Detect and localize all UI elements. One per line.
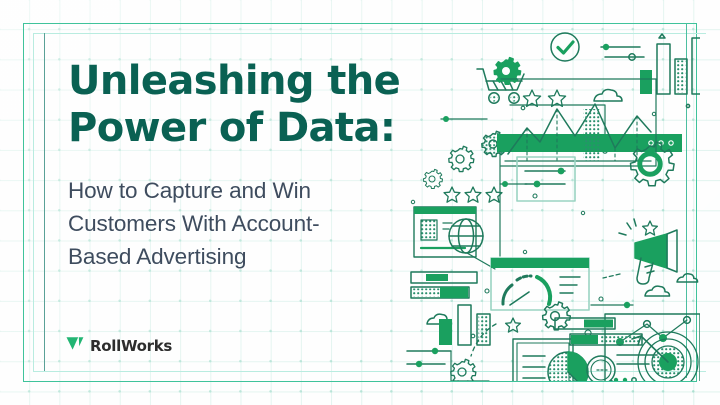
pie-chart-icon [548, 352, 588, 381]
line-chart-icon-main [501, 79, 656, 166]
gear-icon-cart [494, 58, 520, 85]
rollworks-arrow-icon [66, 336, 84, 356]
progress-bar-icon-a [411, 272, 477, 283]
cloud-icon-topright [677, 274, 698, 282]
subhead-line-2: Customers With Account- [68, 211, 320, 236]
document-globe-card [414, 207, 476, 257]
gear-icon-bottom-b [451, 359, 476, 381]
brand-logo-text: RollWorks [90, 337, 172, 355]
progress-bar-icon-d [570, 334, 642, 345]
bar-chart-icon-top [640, 34, 700, 108]
page-subtitle: How to Capture and Win Customers With Ac… [68, 174, 438, 273]
star-icon-group-top [523, 90, 565, 106]
cloud-icon-top [594, 90, 622, 102]
gear-icon-left-a [449, 146, 474, 171]
slider-control-icon-top [601, 44, 644, 60]
checkmark-circle-icon [551, 33, 579, 61]
decorative-frame-rule-left [44, 33, 45, 371]
slider-control-icon-right [591, 297, 633, 308]
gear-icon-left-b [424, 169, 443, 188]
slide-canvas: Unleashing the Power of Data: How to Cap… [0, 0, 720, 405]
page-title: Unleashing the Power of Data: [68, 58, 438, 152]
subhead-line-3: Based Advertising [68, 244, 246, 269]
gear-icon-bottom-a [543, 302, 571, 330]
cloud-icon-right [645, 286, 670, 296]
headline-line-1: Unleashing the [68, 58, 400, 104]
star-icon-group-mid [444, 187, 502, 202]
subhead-line-1: How to Capture and Win [68, 178, 311, 203]
megaphone-icon [603, 219, 677, 284]
brand-logo: RollWorks [66, 336, 172, 356]
bar-chart-icon-bottom-left [439, 305, 490, 345]
slider-control-icon-bottom [407, 348, 489, 381]
hero-illustration [405, 24, 700, 381]
slider-card-icon [517, 157, 575, 201]
headline-line-2: Power of Data: [68, 105, 395, 151]
gauge-card [491, 258, 589, 310]
progress-bar-icon-b [411, 287, 469, 298]
title-block: Unleashing the Power of Data: How to Cap… [68, 58, 438, 273]
